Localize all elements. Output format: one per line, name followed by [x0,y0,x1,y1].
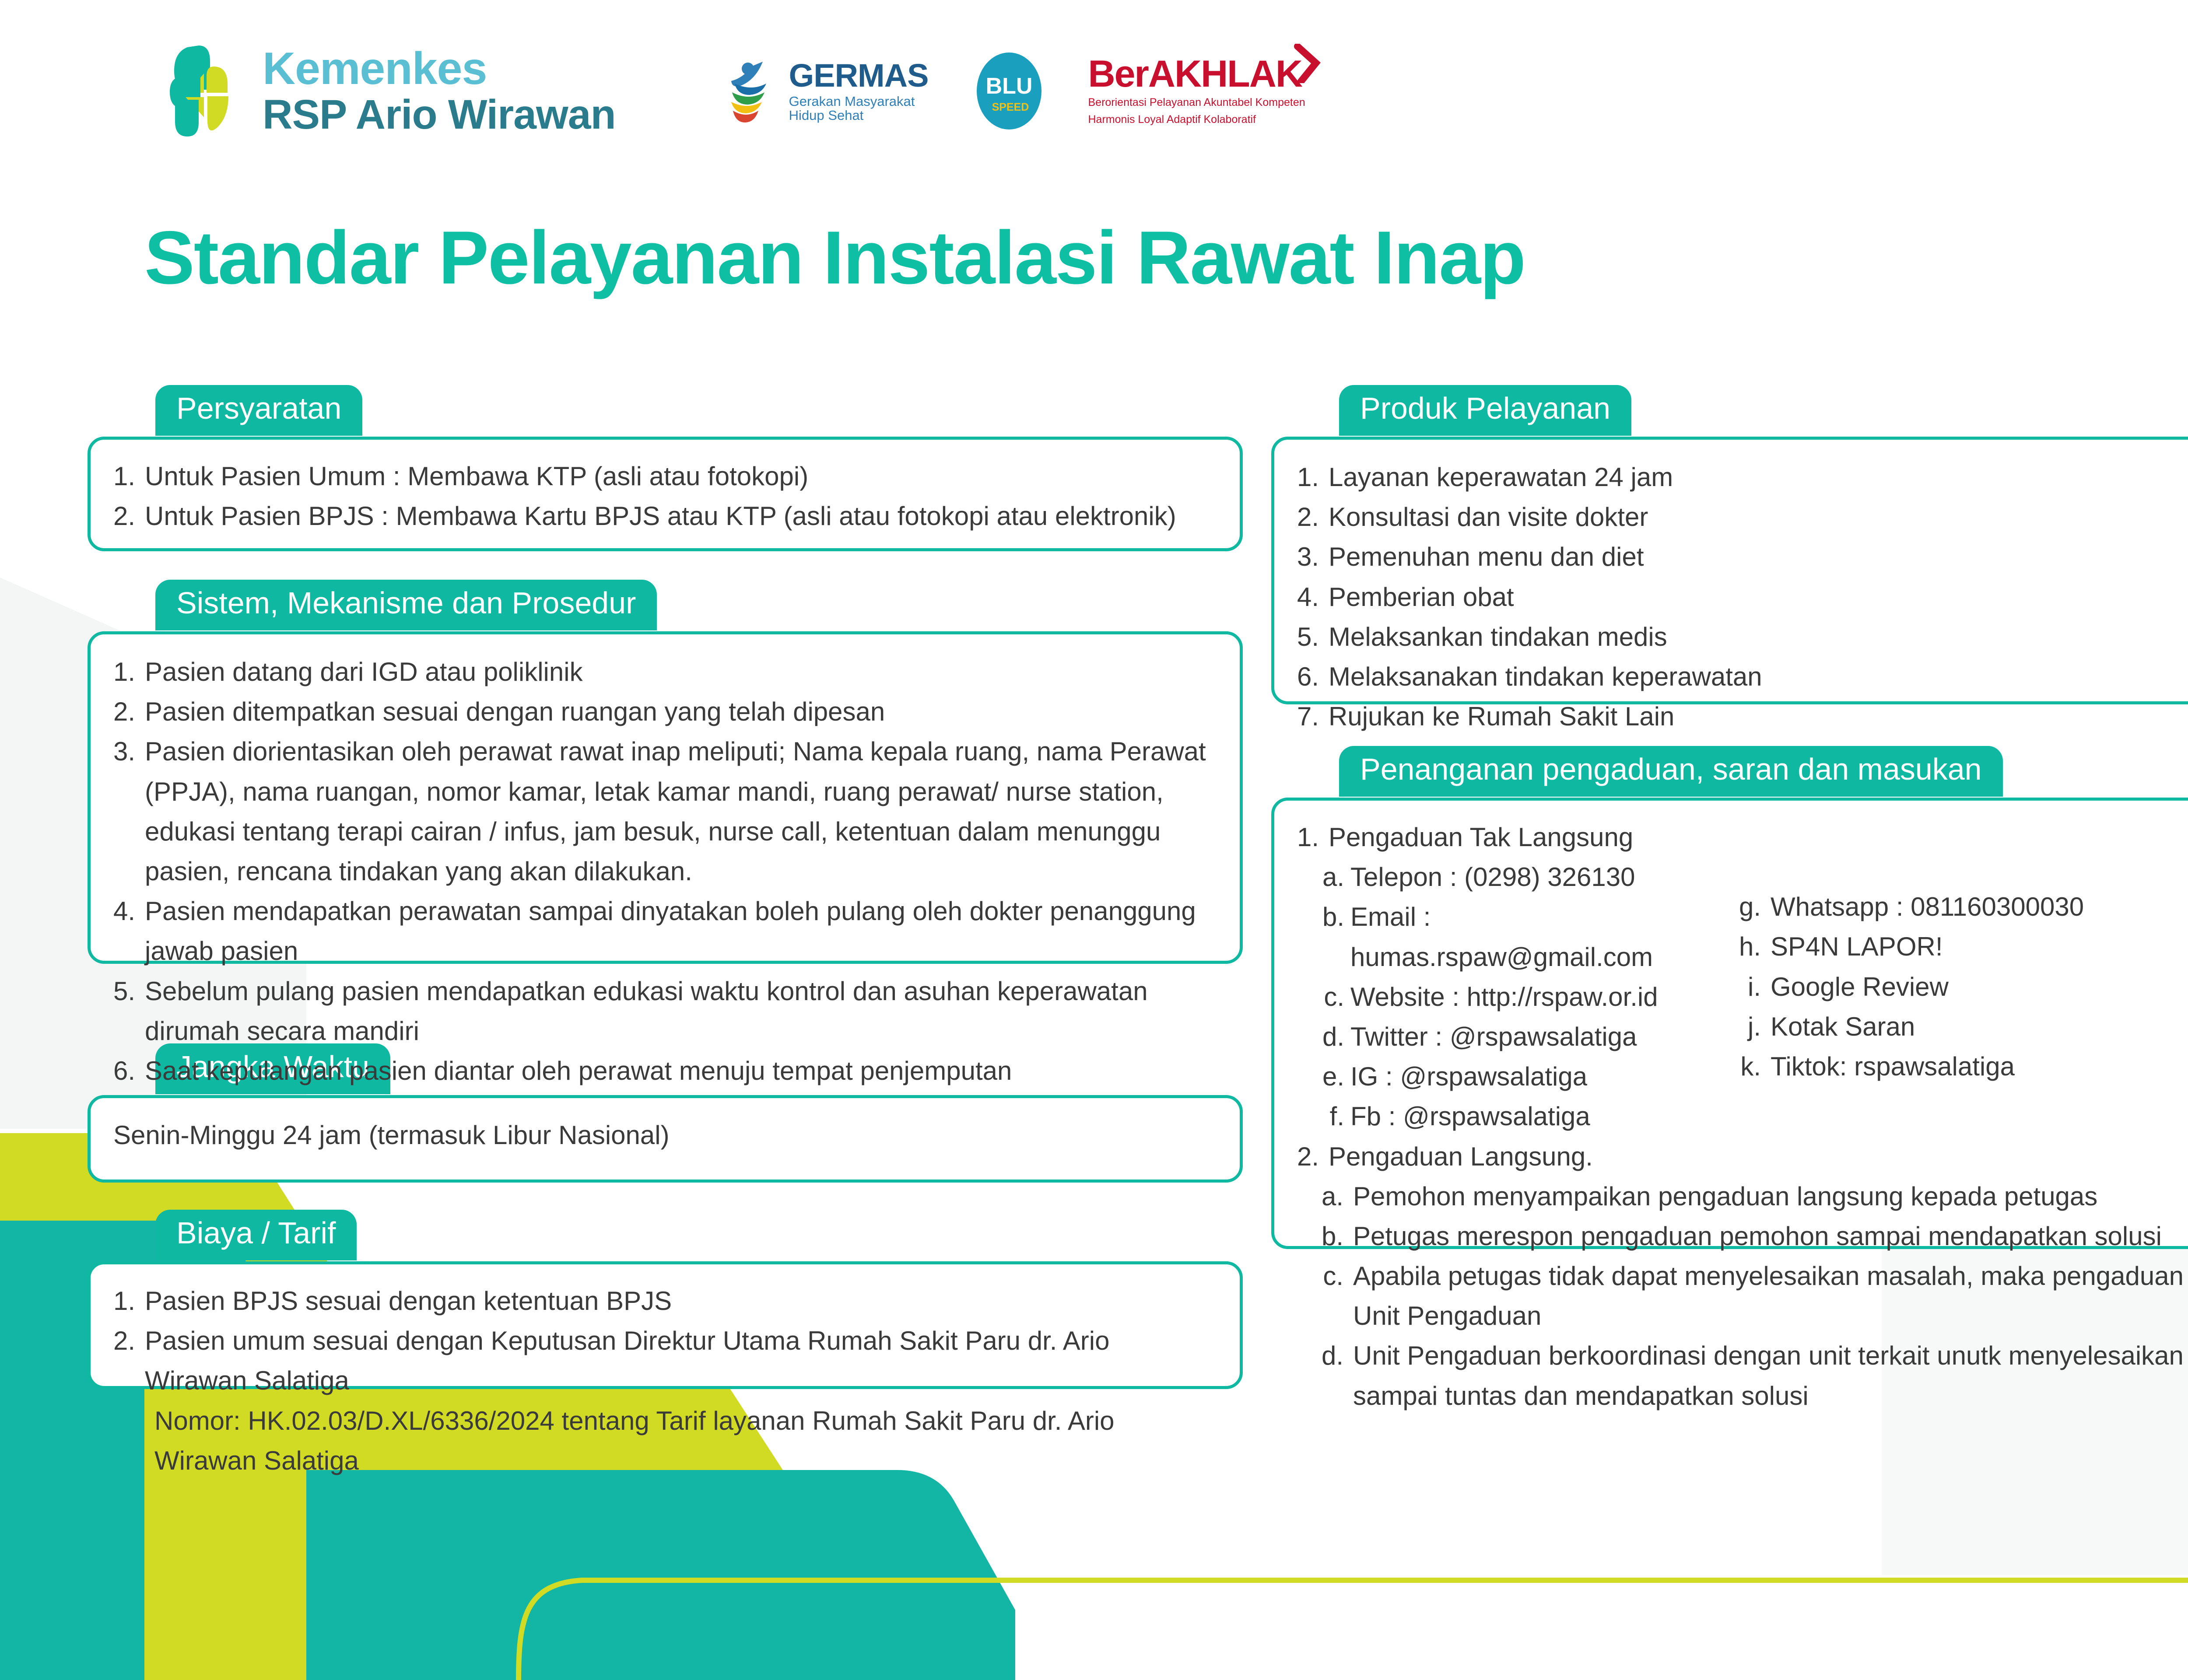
panel-pengaduan-body: 1. Pengaduan Tak Langsung a. Telepon : (… [1271,798,2188,1249]
list-text: Layanan keperawatan 24 jam [1329,457,2188,497]
list-item: c. Apabila petugas tidak dapat menyelesa… [1322,1256,2188,1336]
panel-jangka-body: Senin-Minggu 24 jam (termasuk Libur Nasi… [88,1095,1243,1183]
list-text: Pemenuhan menu dan diet [1329,537,2188,577]
panel-persyaratan: Persyaratan 1. Untuk Pasien Umum : Memba… [88,385,1243,551]
list-marker: g. [1739,887,1771,927]
page-title: Standar Pelayanan Instalasi Rawat Inap [144,214,1525,301]
list-marker: 1. [1297,817,1329,857]
list-text: Pengaduan Tak Langsung [1329,817,2188,857]
list-text: Tiktok: rspawsalatiga [1771,1046,2188,1086]
list-marker: 6. [1297,657,1329,696]
list-text: IG : @rspawsalatiga [1350,1057,1726,1096]
list-marker: 4. [1297,577,1329,617]
list-marker: i. [1739,967,1771,1007]
list-item: 3. Pasien diorientasikan oleh perawat ra… [113,731,1217,891]
list-text: Apabila petugas tidak dapat menyelesaika… [1353,1256,2188,1336]
list-marker: 2. [1297,497,1329,537]
panel-biaya-tarif: Biaya / Tarif 1. Pasien BPJS sesuai deng… [88,1210,1243,1402]
list-item: a. Telepon : (0298) 326130 [1322,857,1726,897]
list-item: 1. Layanan keperawatan 24 jam [1297,457,2188,497]
panel-produk-body: 1. Layanan keperawatan 24 jam 2. Konsult… [1271,437,2188,704]
list-text: Pasien mendapatkan perawatan sampai diny… [145,891,1217,971]
list-item: d. Unit Pengaduan berkoordinasi dengan u… [1322,1336,2188,1415]
svg-text:SPEED: SPEED [992,101,1029,113]
list-text: Kotak Saran [1771,1007,2188,1046]
list-item: b. Petugas merespon pengaduan pemohon sa… [1322,1216,2188,1256]
list-item: 2. Pengaduan Langsung. [1297,1137,2188,1176]
list-text: Twitter : @rspawsalatiga [1350,1017,1726,1057]
list-text: Pasien datang dari IGD atau poliklinik [145,652,1217,692]
biaya-continuation: Nomor: HK.02.03/D.XL/6336/2024 tentang T… [113,1401,1217,1480]
list-marker: 2. [1297,1137,1329,1176]
list-marker: b. [1322,1216,1353,1256]
panel-produk-pelayanan: Produk Pelayanan 1. Layanan keperawatan … [1271,385,2188,704]
list-text: Telepon : (0298) 326130 [1350,857,1726,897]
germas-mark-icon [725,58,781,124]
berakhlak-sub1: Berorientasi Pelayanan Akuntabel Kompete… [1088,96,1305,109]
berakhlak-title: BerAKHLAK [1088,55,1305,93]
list-item: e. IG : @rspawsalatiga [1322,1057,1726,1096]
kemenkes-line1: Kemenkes [263,46,616,91]
list-marker: 5. [1297,617,1329,657]
list-item: j. Kotak Saran [1739,1007,2188,1046]
list-item: 1. Pengaduan Tak Langsung [1297,817,2188,857]
list-text: Saat kepulangan pasien diantar oleh pera… [145,1051,1217,1091]
list-item: 4. Pasien mendapatkan perawatan sampai d… [113,891,1217,971]
germas-logo: GERMAS Gerakan Masyarakat Hidup Sehat [725,58,929,124]
list-marker: d. [1322,1017,1350,1057]
deco-teal-shape-2 [306,1470,1015,1680]
list-text: Konsultasi dan visite dokter [1329,497,2188,537]
list-marker: 4. [113,891,145,971]
list-item: 1. Pasien datang dari IGD atau poliklini… [113,652,1217,692]
list-marker: 6. [113,1051,145,1091]
panel-biaya-body: 1. Pasien BPJS sesuai dengan ketentuan B… [88,1261,1243,1389]
list-item: 4. Pemberian obat [1297,577,2188,617]
berakhlak-sub2: Harmonis Loyal Adaptif Kolaboratif [1088,113,1305,126]
list-text: Pengaduan Langsung. [1329,1137,2188,1176]
list-item: 6. Saat kepulangan pasien diantar oleh p… [113,1051,1217,1091]
list-marker: 1. [1297,457,1329,497]
panel-penanganan-pengaduan: Penanganan pengaduan, saran dan masukan … [1271,746,2188,1249]
list-text: Pasien diorientasikan oleh perawat rawat… [145,731,1217,891]
list-marker: k. [1739,1046,1771,1086]
list-marker: 1. [113,652,145,692]
list-marker: f. [1322,1096,1350,1136]
list-marker: j. [1739,1007,1771,1046]
panel-biaya-tab: Biaya / Tarif [155,1210,357,1260]
list-marker: a. [1322,857,1350,897]
list-text: Pemohon menyampaikan pengaduan langsung … [1353,1176,2188,1216]
list-item: h. SP4N LAPOR! [1739,927,2188,966]
list-marker: 2. [113,692,145,731]
list-text: Pasien BPJS sesuai dengan ketentuan BPJS [145,1281,1217,1321]
list-marker: 1. [113,456,145,496]
list-item: d. Twitter : @rspawsalatiga [1322,1017,1726,1057]
list-marker: d. [1322,1336,1353,1415]
list-text: Untuk Pasien Umum : Membawa KTP (asli at… [145,456,1217,496]
list-item: 3. Pemenuhan menu dan diet [1297,537,2188,577]
list-marker: 1. [113,1281,145,1321]
list-text: Whatsapp : 081160300030 [1771,887,2188,927]
list-item: 2. Konsultasi dan visite dokter [1297,497,2188,537]
list-item: 1. Pasien BPJS sesuai dengan ketentuan B… [113,1281,1217,1321]
list-marker: e. [1322,1057,1350,1096]
kemenkes-mark-icon [162,44,245,138]
berakhlak-arrow-icon [1293,44,1324,85]
list-item: g. Whatsapp : 081160300030 [1739,887,2188,927]
list-marker: c. [1322,1256,1353,1336]
list-item: c. Website : http://rspaw.or.id [1322,977,1726,1017]
list-text: Pemberian obat [1329,577,2188,617]
header-logos: Kemenkes RSP Ario Wirawan GERMAS Gerakan… [162,44,1305,138]
kemenkes-logo: Kemenkes RSP Ario Wirawan [162,44,616,138]
germas-title: GERMAS [789,59,929,93]
panel-persyaratan-tab: Persyaratan [155,385,362,436]
list-text: Fb : @rspawsalatiga [1350,1096,1726,1136]
list-marker: h. [1739,927,1771,966]
list-text: Petugas merespon pengaduan pemohon sampa… [1353,1216,2188,1256]
list-text: Pasien umum sesuai dengan Keputusan Dire… [145,1321,1217,1400]
panel-sistem-mekanisme-prosedur: Sistem, Mekanisme dan Prosedur 1. Pasien… [88,580,1243,965]
list-item: 2. Pasien umum sesuai dengan Keputusan D… [113,1321,1217,1400]
list-text: Sebelum pulang pasien mendapatkan edukas… [145,971,1217,1051]
list-text: Untuk Pasien BPJS : Membawa Kartu BPJS a… [145,496,1217,536]
list-item: 2. Untuk Pasien BPJS : Membawa Kartu BPJ… [113,496,1217,536]
list-item: 5. Melaksankan tindakan medis [1297,617,2188,657]
list-text: Rujukan ke Rumah Sakit Lain [1329,696,2188,736]
list-item: b. Email : humas.rspaw@gmail.com [1322,897,1726,976]
list-item: f. Fb : @rspawsalatiga [1322,1096,1726,1136]
list-text: Melaksankan tindakan medis [1329,617,2188,657]
list-item: a. Pemohon menyampaikan pengaduan langsu… [1322,1176,2188,1216]
list-text: Email : humas.rspaw@gmail.com [1350,897,1726,976]
list-text: Unit Pengaduan berkoordinasi dengan unit… [1353,1336,2188,1415]
list-text: SP4N LAPOR! [1771,927,2188,966]
kemenkes-line2: RSP Ario Wirawan [263,94,616,136]
list-item: 1. Untuk Pasien Umum : Membawa KTP (asli… [113,456,1217,496]
list-item: 6. Melaksanakan tindakan keperawatan [1297,657,2188,696]
list-item: k. Tiktok: rspawsalatiga [1739,1046,2188,1086]
germas-sub1: Gerakan Masyarakat [789,94,929,109]
panel-pengaduan-tab: Penanganan pengaduan, saran dan masukan [1339,746,2003,797]
panel-sistem-body: 1. Pasien datang dari IGD atau poliklini… [88,631,1243,964]
panel-persyaratan-body: 1. Untuk Pasien Umum : Membawa KTP (asli… [88,437,1243,551]
list-marker: 2. [113,1321,145,1400]
list-marker: 3. [1297,537,1329,577]
list-item: i. Google Review [1739,967,2188,1007]
list-text: Melaksanakan tindakan keperawatan [1329,657,2188,696]
svg-text:BLU: BLU [986,73,1033,99]
panel-produk-tab: Produk Pelayanan [1339,385,1631,436]
list-marker: 5. [113,971,145,1051]
poster-root: Kemenkes RSP Ario Wirawan GERMAS Gerakan… [0,0,2188,1680]
list-text: Google Review [1771,967,2188,1007]
list-marker: a. [1322,1176,1353,1216]
blu-logo-icon: BLU SPEED [976,52,1042,130]
jangka-waktu-text: Senin-Minggu 24 jam (termasuk Libur Nasi… [113,1116,1217,1155]
list-text: Pasien ditempatkan sesuai dengan ruangan… [145,692,1217,731]
list-text: Website : http://rspaw.or.id [1350,977,1726,1017]
germas-sub2: Hidup Sehat [789,108,929,123]
panel-sistem-tab: Sistem, Mekanisme dan Prosedur [155,580,657,630]
list-marker: 7. [1297,696,1329,736]
list-marker: b. [1322,897,1350,976]
deco-lime-rule [519,1580,2188,1680]
list-item: 2. Pasien ditempatkan sesuai dengan ruan… [113,692,1217,731]
list-item: 5. Sebelum pulang pasien mendapatkan edu… [113,971,1217,1051]
list-marker: 3. [113,731,145,891]
list-marker: 2. [113,496,145,536]
list-marker: c. [1322,977,1350,1017]
list-item: 7. Rujukan ke Rumah Sakit Lain [1297,696,2188,736]
berakhlak-logo: BerAKHLAK Berorientasi Pelayanan Akuntab… [1088,55,1305,126]
